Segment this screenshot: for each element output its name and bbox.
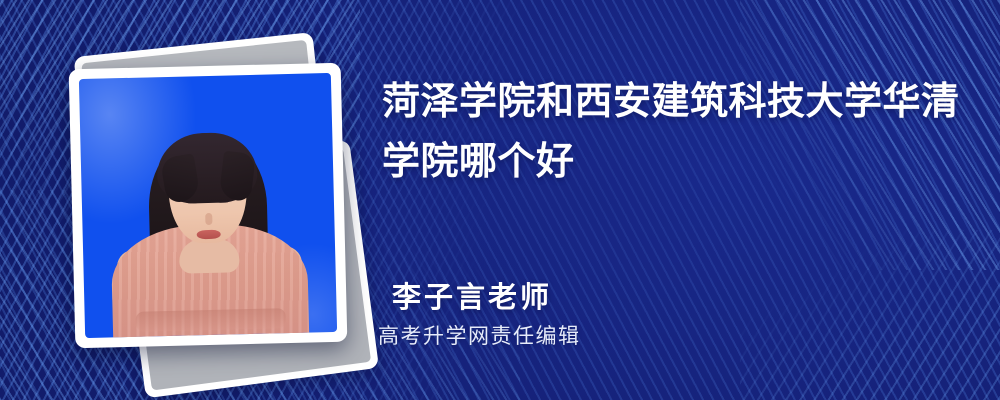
author-photo-card bbox=[69, 63, 348, 349]
author-photo bbox=[79, 73, 337, 338]
author-role: 高考升学网责任编辑 bbox=[378, 320, 581, 350]
photo-card-stack bbox=[58, 44, 358, 354]
portrait-hair-front bbox=[156, 132, 258, 204]
author-name: 李子言老师 bbox=[392, 274, 552, 316]
page-title: 菏泽学院和西安建筑科技大学华清学院哪个好 bbox=[382, 72, 962, 192]
portrait-nose bbox=[205, 213, 212, 225]
banner-content: 菏泽学院和西安建筑科技大学华清学院哪个好 李子言老师 高考升学网责任编辑 bbox=[380, 0, 980, 400]
portrait-dress-waistband bbox=[136, 308, 286, 332]
article-header-banner: 菏泽学院和西安建筑科技大学华清学院哪个好 李子言老师 高考升学网责任编辑 bbox=[0, 0, 1000, 400]
portrait-neckline bbox=[179, 238, 240, 273]
portrait-illustration bbox=[79, 73, 337, 338]
